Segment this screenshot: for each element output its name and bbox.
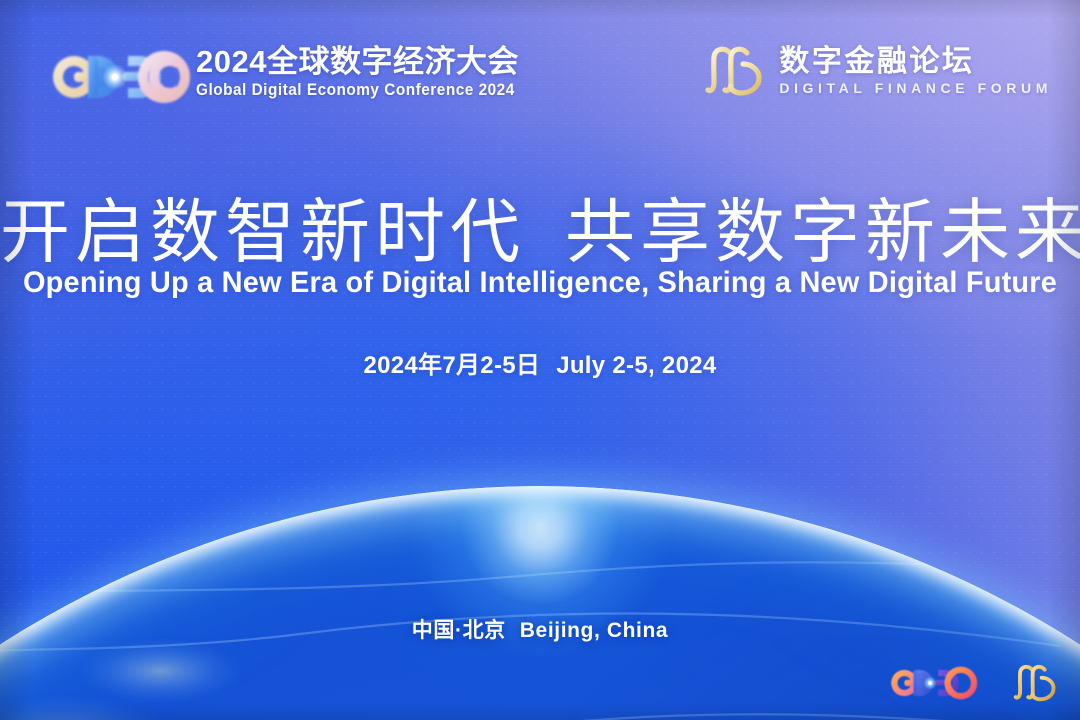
footer-ff-monogram-icon (1012, 662, 1058, 704)
date-cn: 2024年7月2-5日 (363, 352, 540, 379)
location-cn: 中国·北京 (412, 619, 506, 642)
hero-headline-cn: 开启数智新时代共享数字新未来 (0, 190, 1080, 274)
ff-monogram-icon (703, 44, 765, 98)
gdec-title-cn: 2024全球数字经济大会 (196, 44, 526, 80)
hero-headline-en: Opening Up a New Era of Digital Intellig… (19, 263, 1061, 303)
gdec-title-block: 2024全球数字经济大会 Global Digital Economy Conf… (196, 44, 526, 101)
dff-name-en: DIGITAL FINANCE FORUM (779, 79, 1052, 98)
dff-name-cn: 数字金融论坛 (779, 44, 1052, 79)
footer-gdec-logo-icon (878, 663, 986, 703)
footer-logo-group (878, 662, 1058, 704)
date-en: July 2-5, 2024 (556, 352, 716, 379)
location-en: Beijing, China (520, 619, 668, 642)
hero-dateline: 2024年7月2-5日July 2-5, 2024 (0, 350, 1080, 382)
gdec-title-en: Global Digital Economy Conference 2024 (196, 80, 503, 101)
gdec-logo-mark (32, 46, 204, 108)
headline-part-1: 开启数智新时代 (0, 193, 525, 271)
headline-part-2: 共享数字新未来 (565, 193, 1080, 271)
conference-backdrop: 2024全球数字经济大会 Global Digital Economy Conf… (0, 0, 1080, 720)
digital-finance-forum-logo: 数字金融论坛 DIGITAL FINANCE FORUM (703, 44, 1052, 98)
dff-text-block: 数字金融论坛 DIGITAL FINANCE FORUM (779, 44, 1052, 98)
location-line: 中国·北京Beijing, China (0, 617, 1080, 645)
